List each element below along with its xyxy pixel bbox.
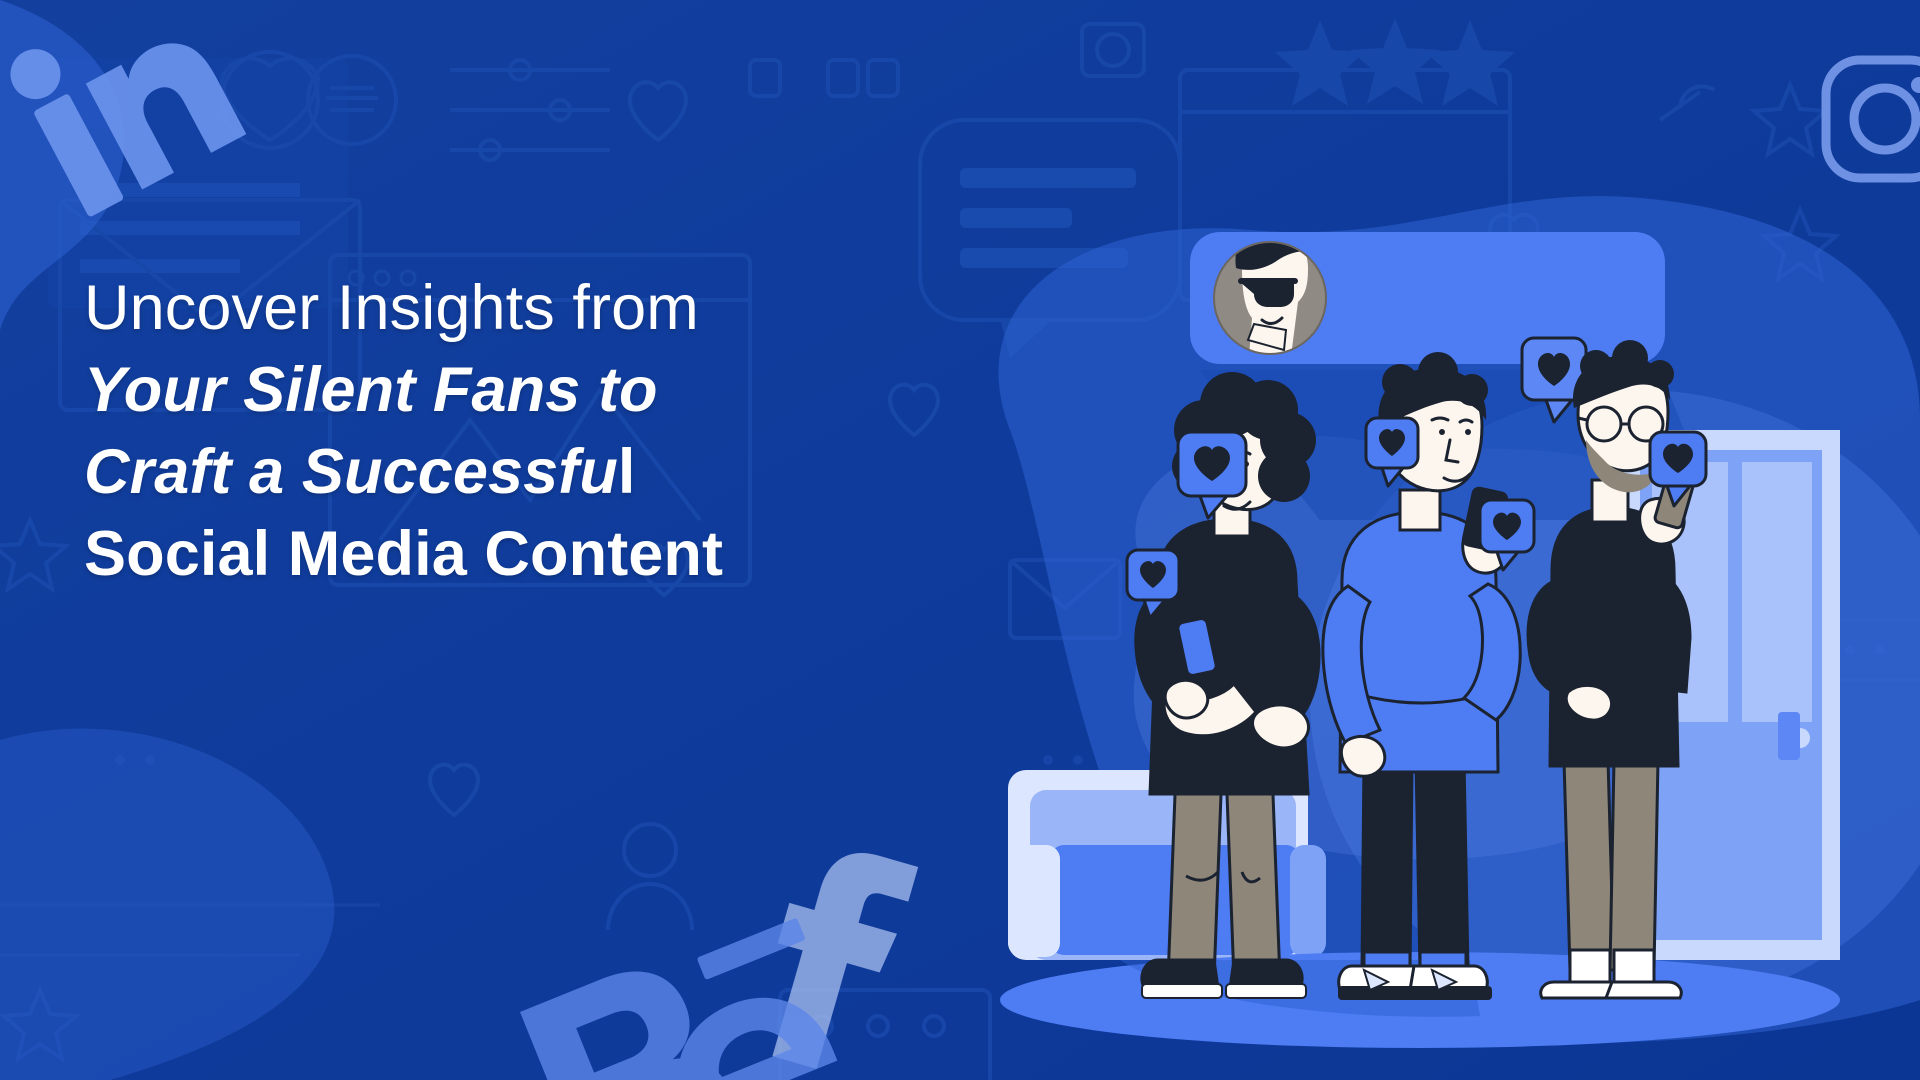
- headline-line-3: Craft a Successful: [84, 432, 1064, 514]
- headline-line-1: Uncover Insights from: [84, 268, 1064, 350]
- headline-line-3-upright: l: [618, 437, 636, 507]
- profile-card: [1190, 220, 1665, 370]
- headline-line-4: Social Media Content: [84, 514, 1064, 596]
- hero-banner: Uncover Insights from Your Silent Fans t…: [0, 0, 1920, 1080]
- headline-line-3-italic: Craft a Successfu: [84, 437, 618, 507]
- page-title: Uncover Insights from Your Silent Fans t…: [84, 268, 1064, 596]
- headline-line-2: Your Silent Fans to: [84, 350, 1064, 432]
